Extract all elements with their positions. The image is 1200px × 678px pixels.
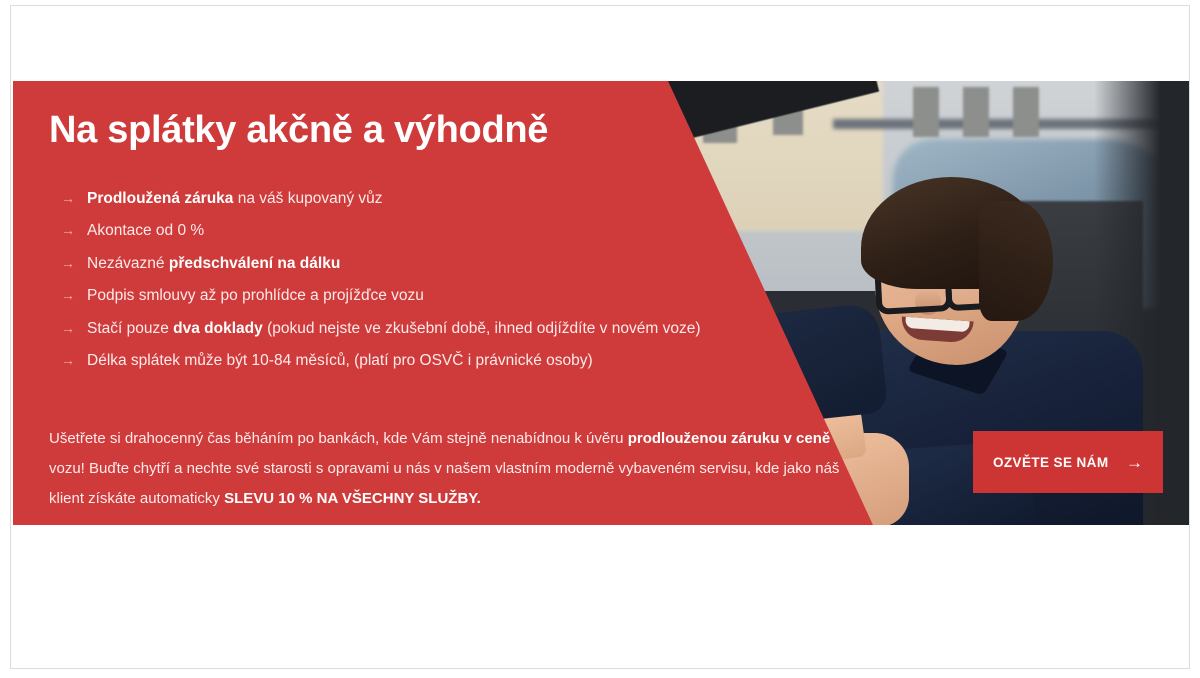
boy-hair-side xyxy=(979,201,1053,321)
list-item-rest: Akontace od 0 % xyxy=(87,222,204,239)
page-canvas: Na splátky akčně a výhodně → Prodloužená… xyxy=(10,5,1190,669)
arrow-right-icon: → xyxy=(61,190,87,208)
banner-content: Na splátky akčně a výhodně → Prodloužená… xyxy=(49,81,849,525)
list-item: → Prodloužená záruka na váš kupovaný vůz xyxy=(61,189,851,208)
list-item-rest: Délka splátek může být 10-84 měsíců, (pl… xyxy=(87,352,593,369)
list-item: → Délka splátek může být 10-84 měsíců, (… xyxy=(61,351,851,370)
list-item: → Podpis smlouvy až po prohlídce a projí… xyxy=(61,286,851,305)
list-item-rest: Stačí pouze xyxy=(87,320,173,337)
list-item: → Stačí pouze dva doklady (pokud nejste … xyxy=(61,319,851,338)
arrow-right-icon: → xyxy=(61,320,87,338)
arrow-right-icon: → xyxy=(61,222,87,240)
contact-us-button[interactable]: OZVĚTE SE NÁM → xyxy=(973,431,1163,493)
photo-background-window xyxy=(1013,87,1039,137)
promo-paragraph: Ušetřete si drahocenný čas běháním po ba… xyxy=(49,424,849,514)
list-item-label: Stačí pouze dva doklady (pokud nejste ve… xyxy=(87,319,700,338)
arrow-right-icon: → xyxy=(61,287,87,305)
list-item-rest: Podpis smlouvy až po prohlídce a projížď… xyxy=(87,287,424,304)
arrow-right-icon: → xyxy=(61,255,87,273)
list-item-label: Akontace od 0 % xyxy=(87,221,204,240)
contact-us-button-label: OZVĚTE SE NÁM xyxy=(993,455,1108,470)
page-title: Na splátky akčně a výhodně xyxy=(49,109,548,152)
paragraph-part-1: Ušetřete si drahocenný čas běháním po ba… xyxy=(49,430,628,447)
list-item-label: Podpis smlouvy až po prohlídce a projížď… xyxy=(87,286,424,305)
list-item-rest: Nezávazné xyxy=(87,255,169,272)
list-item-bold-mid: dva doklady xyxy=(173,320,263,337)
list-item: → Nezávazné předschválení na dálku xyxy=(61,254,851,273)
paragraph-bold-2: SLEVU 10 % NA VŠECHNY SLUŽBY. xyxy=(224,490,481,507)
promo-banner: Na splátky akčně a výhodně → Prodloužená… xyxy=(13,81,1189,525)
list-item-label: Prodloužená záruka na váš kupovaný vůz xyxy=(87,189,383,208)
photo-background-window xyxy=(963,87,989,137)
list-item: → Akontace od 0 % xyxy=(61,221,851,240)
arrow-right-icon: → xyxy=(1126,454,1143,471)
paragraph-bold-1: prodlouženou záruku v ceně xyxy=(628,430,831,447)
list-item-label: Nezávazné předschválení na dálku xyxy=(87,254,340,273)
list-item-label: Délka splátek může být 10-84 měsíců, (pl… xyxy=(87,351,593,370)
list-item-rest: na váš kupovaný vůz xyxy=(233,190,382,207)
list-item-tail: (pokud nejste ve zkušební době, ihned od… xyxy=(263,320,701,337)
photo-background-window xyxy=(913,87,939,137)
arrow-right-icon: → xyxy=(61,352,87,370)
list-item-bold-prefix: Prodloužená záruka xyxy=(87,190,233,207)
benefits-list: → Prodloužená záruka na váš kupovaný vůz… xyxy=(61,189,851,383)
list-item-bold-mid: předschválení na dálku xyxy=(169,255,340,272)
